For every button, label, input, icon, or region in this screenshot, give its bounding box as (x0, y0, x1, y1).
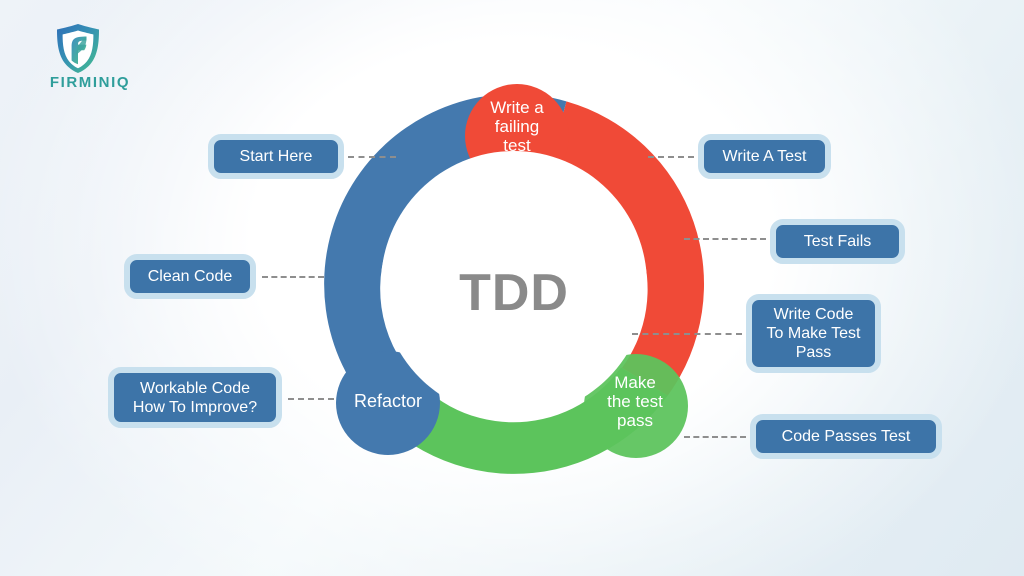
callout-write-a-test-label: Write A Test (714, 147, 815, 166)
connector-start-here (348, 156, 396, 158)
connector-clean-code (262, 276, 324, 278)
connector-test-fails (684, 238, 766, 240)
connector-code-passes-test (684, 436, 746, 438)
center-label-tdd: TDD (414, 263, 614, 323)
connector-write-code-pass (632, 333, 742, 335)
connector-write-a-test (648, 156, 694, 158)
callout-test-fails-label: Test Fails (786, 232, 889, 251)
callout-code-passes-test-label: Code Passes Test (766, 427, 926, 446)
callout-test-fails[interactable]: Test Fails (770, 219, 905, 264)
callout-start-here-label: Start Here (224, 147, 328, 166)
callout-write-code-pass[interactable]: Write CodeTo Make TestPass (746, 294, 881, 373)
callout-workable-code-label: Workable CodeHow To Improve? (124, 379, 266, 417)
connector-workable-code (288, 398, 334, 400)
callout-clean-code[interactable]: Clean Code (124, 254, 256, 299)
diagram-canvas: FIRMINIQ Write afailingtest Makethe test… (0, 0, 1024, 576)
callout-clean-code-label: Clean Code (140, 267, 240, 286)
callout-write-a-test[interactable]: Write A Test (698, 134, 831, 179)
callout-workable-code[interactable]: Workable CodeHow To Improve? (108, 367, 282, 428)
callout-write-code-pass-label: Write CodeTo Make TestPass (762, 305, 865, 362)
callout-start-here[interactable]: Start Here (208, 134, 344, 179)
callout-code-passes-test[interactable]: Code Passes Test (750, 414, 942, 459)
